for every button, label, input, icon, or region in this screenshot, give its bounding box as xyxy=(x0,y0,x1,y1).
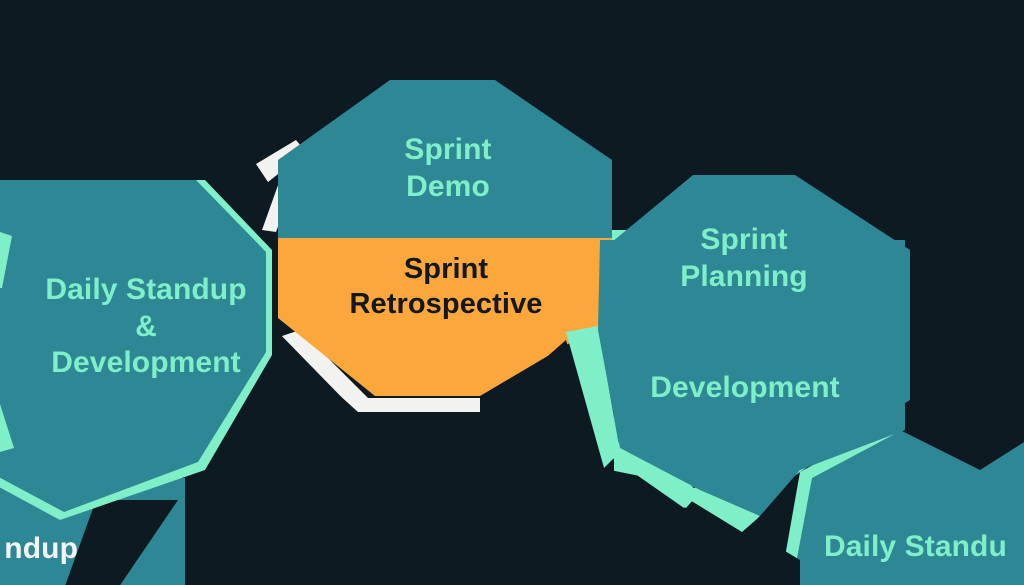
hex-left-body xyxy=(0,180,266,512)
center-white-seam-bottom xyxy=(358,398,480,412)
hex-sprint-demo-body xyxy=(278,80,612,238)
hex-sprint-demo[interactable] xyxy=(278,80,612,238)
diagram-canvas: Sprint Demo Sprint Retrospective Daily S… xyxy=(0,0,1024,585)
center-bottom-dark-strip xyxy=(356,412,484,585)
hex-daily-standup-development[interactable] xyxy=(0,140,306,520)
hexagon-shapes-layer xyxy=(0,0,1024,585)
